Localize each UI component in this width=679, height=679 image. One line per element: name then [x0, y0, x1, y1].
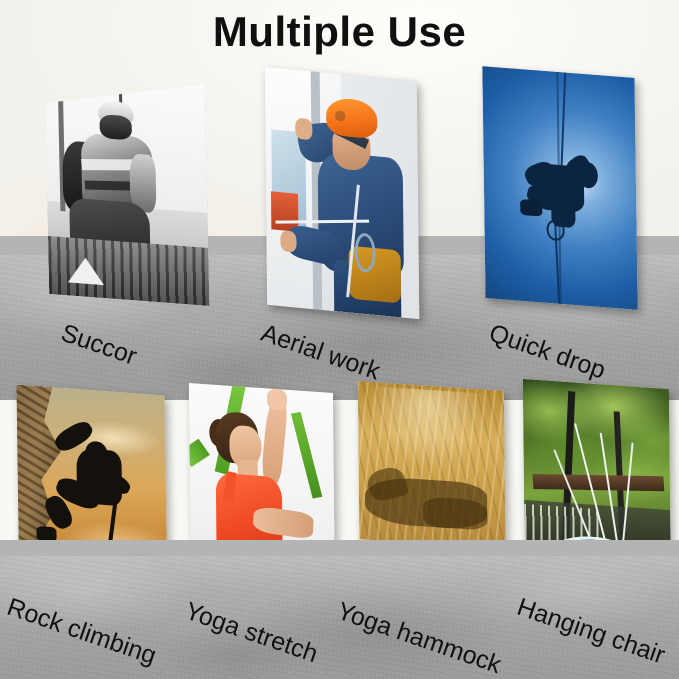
panel-card-aerial-work[interactable]: [265, 67, 420, 319]
photo-quick-drop: [482, 66, 637, 310]
infographic-root: Succor Aerial work Quick drop: [0, 0, 679, 679]
panel-card-succor[interactable]: [45, 72, 210, 306]
panel-card-quick-drop[interactable]: [482, 66, 637, 310]
page-title: Multiple Use: [0, 8, 679, 56]
photo-succor: [45, 72, 210, 306]
photo-aerial-work: [265, 67, 420, 319]
